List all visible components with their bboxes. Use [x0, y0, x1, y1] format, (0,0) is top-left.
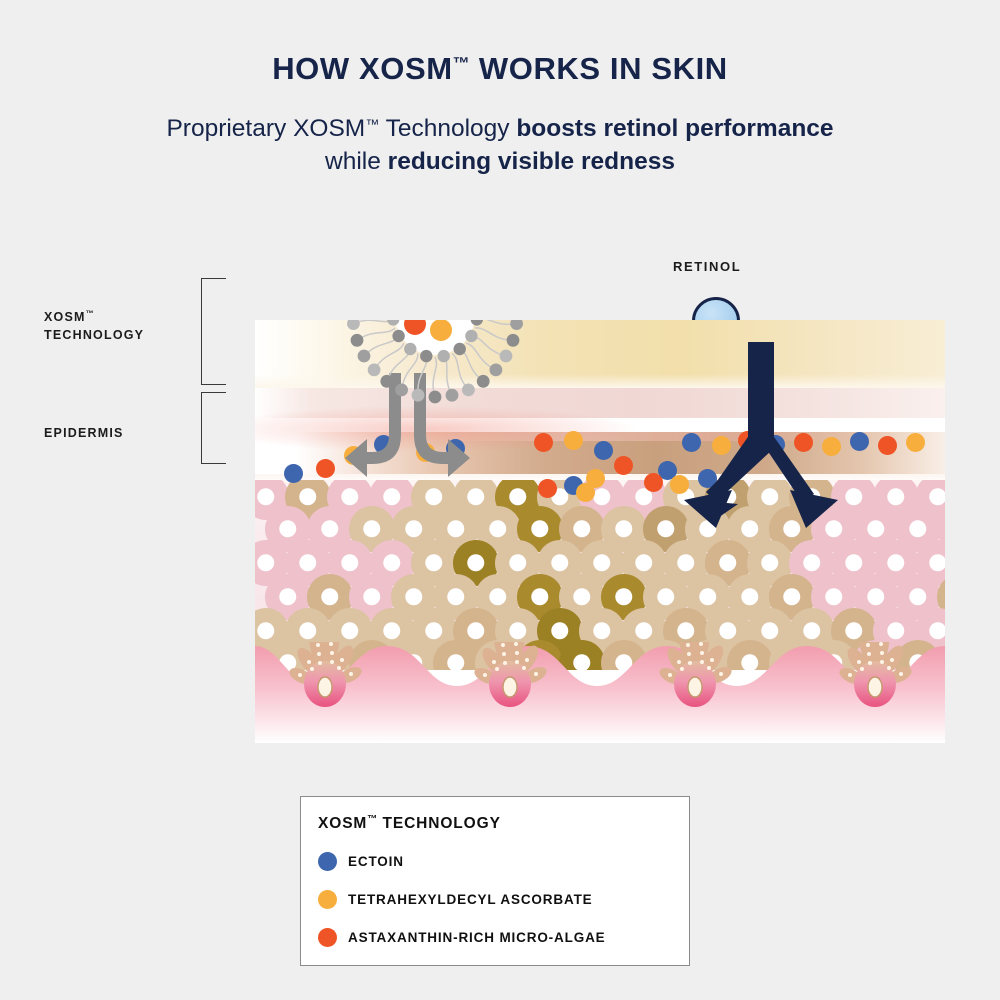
subtitle-segment: Proprietary XOSM: [166, 115, 365, 142]
liposome-head: [490, 364, 503, 377]
skin-cross-section-panel: [255, 320, 945, 743]
liposome-head: [446, 389, 459, 402]
subtitle-segment: Technology: [379, 115, 516, 142]
legend-item-label: ASTAXANTHIN-RICH MICRO-ALGAE: [348, 930, 606, 945]
astaxanthin-dot: [316, 459, 335, 478]
ectoin-dot: [284, 464, 303, 483]
liposome-head: [412, 389, 425, 402]
retinol-label: RETINOL: [673, 259, 741, 274]
liposome-head: [358, 350, 371, 363]
liposome-svg: [340, 320, 530, 410]
liposome-head: [507, 334, 520, 347]
liposome-head: [465, 330, 477, 342]
label-epidermis-line1: EPIDERMIS: [44, 426, 124, 440]
liposome-head: [454, 343, 466, 355]
liposome-head: [429, 391, 442, 404]
liposome-head: [404, 343, 416, 355]
label-epidermis: EPIDERMIS: [44, 424, 194, 442]
astaxanthin-dot: [878, 436, 897, 455]
dot-icon: [318, 928, 337, 947]
infographic-canvas: HOW XOSM™ WORKS IN SKIN Proprietary XOSM…: [0, 0, 1000, 1000]
liposome-ascorbate-dot: [430, 320, 452, 341]
subtitle-segment: boosts retinol performance: [516, 115, 833, 142]
ascorbate-dot: [576, 483, 595, 502]
trademark-icon: ™: [365, 116, 379, 132]
legend-title-post: TECHNOLOGY: [377, 815, 501, 832]
astaxanthin-dot: [614, 456, 633, 475]
liposome-head: [462, 384, 475, 397]
astaxanthin-dot: [538, 479, 557, 498]
liposome-head: [351, 334, 364, 347]
liposome-head: [420, 350, 432, 362]
legend-item-ectoin: ECTOIN: [318, 852, 404, 871]
liposome-head: [395, 384, 408, 397]
liposome-head: [347, 320, 360, 330]
liposome-head: [380, 375, 393, 388]
dot-icon: [318, 852, 337, 871]
bracket-xosm-technology: [201, 278, 226, 385]
page-subtitle: Proprietary XOSM™ Technology boosts reti…: [140, 112, 860, 178]
ascorbate-dot: [906, 433, 925, 452]
subtitle-segment: while: [325, 148, 388, 175]
liposome-head: [510, 320, 523, 330]
legend-title: XOSM™ TECHNOLOGY: [318, 814, 501, 833]
legend-box: XOSM™ TECHNOLOGY ECTOIN TETRAHEXYLDECYL …: [300, 796, 690, 966]
trademark-icon: ™: [453, 54, 470, 73]
xosm-liposome: [340, 320, 530, 410]
label-xosm-technology-line1: XOSM: [44, 310, 86, 324]
trademark-icon: ™: [86, 309, 94, 318]
label-xosm-technology: XOSM™ TECHNOLOGY: [44, 308, 194, 344]
ascorbate-dot: [564, 431, 583, 450]
dot-icon: [318, 890, 337, 909]
page-title: HOW XOSM™ WORKS IN SKIN: [0, 52, 1000, 86]
legend-item-astaxanthin-rich-micro-algae: ASTAXANTHIN-RICH MICRO-ALGAE: [318, 928, 606, 947]
bracket-epidermis: [201, 392, 226, 464]
liposome-head: [392, 330, 404, 342]
liposome-head: [500, 350, 513, 363]
astaxanthin-dot: [534, 433, 553, 452]
ectoin-dot: [594, 441, 613, 460]
liposome-head: [438, 350, 450, 362]
liposome-head: [477, 375, 490, 388]
legend-item-tetrahexyldecyl-ascorbate: TETRAHEXYLDECYL ASCORBATE: [318, 890, 593, 909]
trademark-icon: ™: [367, 814, 377, 825]
legend-item-label: TETRAHEXYLDECYL ASCORBATE: [348, 892, 593, 907]
liposome-head: [368, 364, 381, 377]
title-text-pre: HOW XOSM: [272, 51, 452, 86]
title-text-post: WORKS IN SKIN: [470, 51, 728, 86]
subtitle-segment: reducing visible redness: [388, 148, 675, 175]
label-xosm-technology-line2: TECHNOLOGY: [44, 328, 144, 342]
legend-item-label: ECTOIN: [348, 854, 404, 869]
retinol-penetration-arrow: [660, 342, 860, 532]
legend-title-pre: XOSM: [318, 815, 367, 832]
